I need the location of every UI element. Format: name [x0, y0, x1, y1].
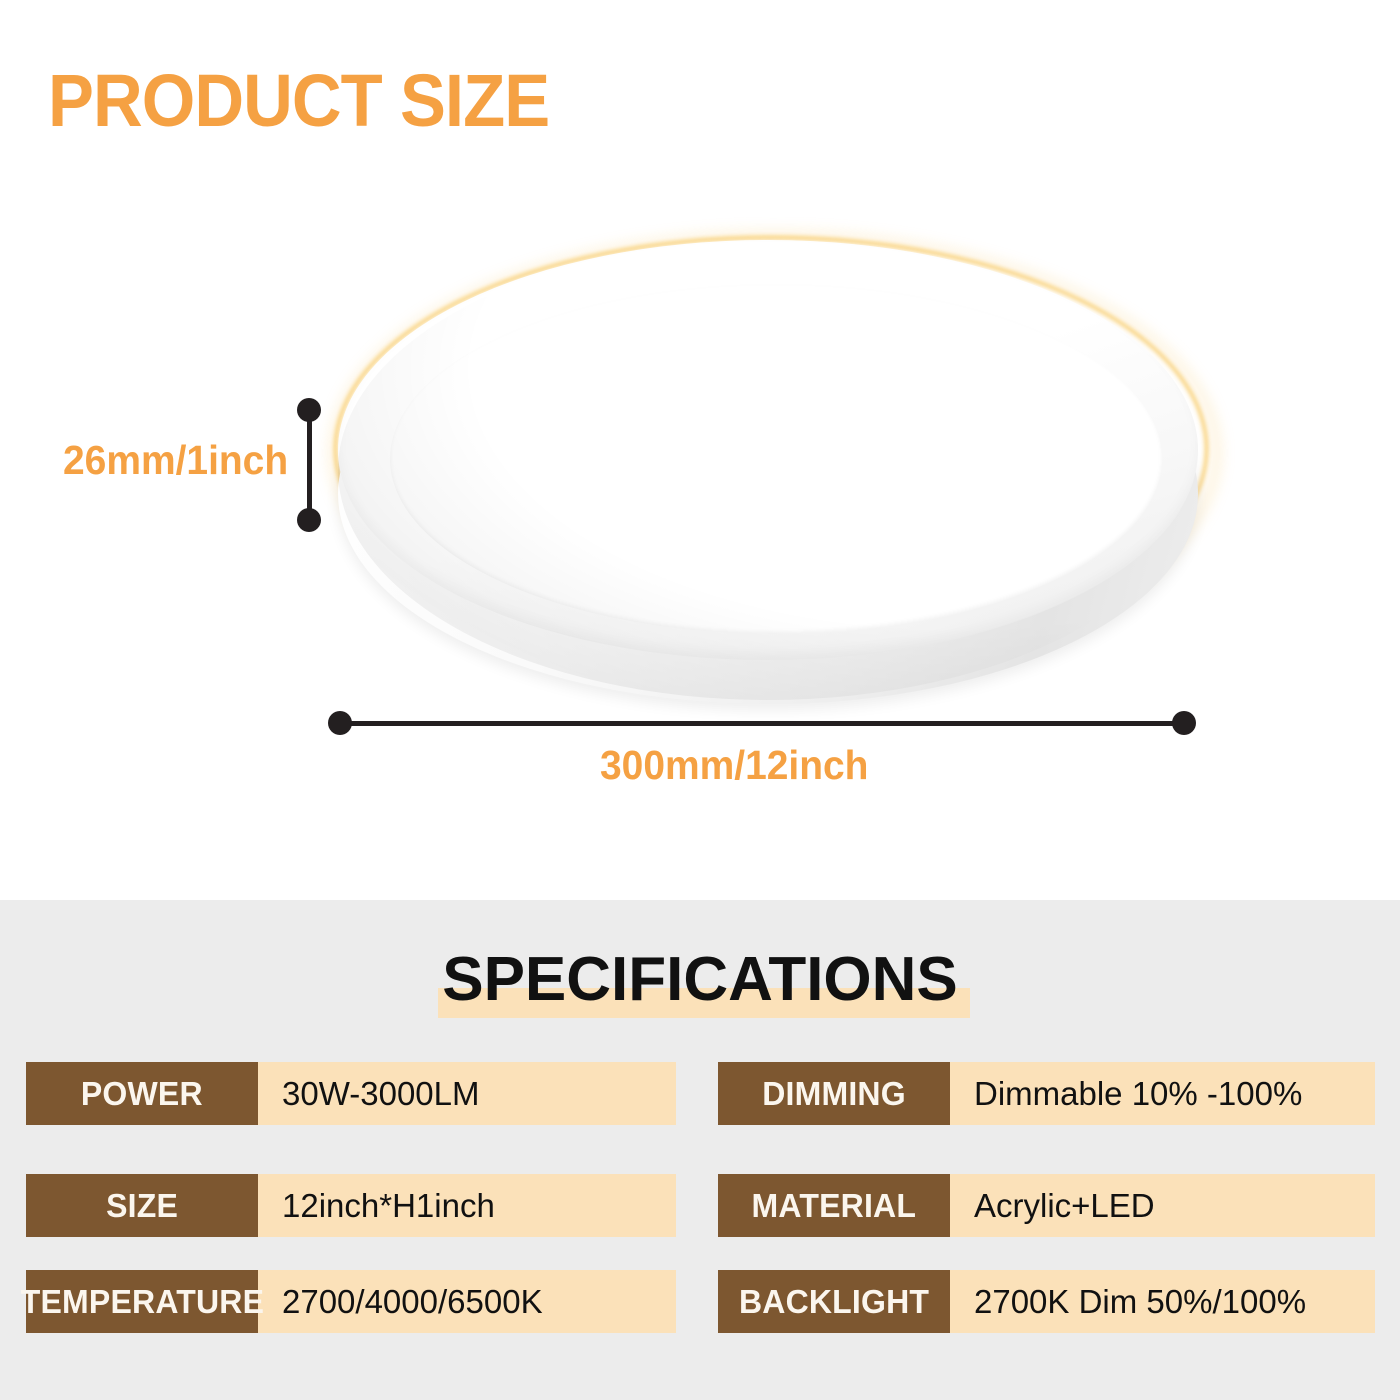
width-dimension-endpoint-left: [328, 711, 352, 735]
width-dimension-line: [340, 721, 1185, 726]
spec-key-power: POWER: [26, 1062, 258, 1125]
spec-row-dimming: DIMMING Dimmable 10% -100%: [718, 1062, 1375, 1125]
lamp-diffuser-panel: [390, 284, 1162, 634]
product-image-ceiling-light: [330, 232, 1210, 692]
height-dimension-endpoint-bottom: [297, 508, 321, 532]
height-dimension-label: 26mm/1inch: [63, 437, 288, 484]
height-dimension-endpoint-top: [297, 398, 321, 422]
spec-key-temperature: TEMPERATURE: [26, 1270, 258, 1333]
spec-value-backlight: 2700K Dim 50%/100%: [950, 1270, 1375, 1333]
spec-value-temperature: 2700/4000/6500K: [258, 1270, 676, 1333]
spec-value-power: 30W-3000LM: [258, 1062, 676, 1125]
width-dimension-label: 300mm/12inch: [600, 742, 868, 789]
spec-value-dimming: Dimmable 10% -100%: [950, 1062, 1375, 1125]
product-size-section: PRODUCT SIZE 26mm/1inch 300mm/12inch: [0, 0, 1400, 900]
spec-row-temperature: TEMPERATURE 2700/4000/6500K: [26, 1270, 676, 1333]
spec-key-power-label: POWER: [81, 1075, 203, 1113]
spec-key-material-label: MATERIAL: [752, 1187, 917, 1225]
spec-key-size: SIZE: [26, 1174, 258, 1237]
product-infographic-page: PRODUCT SIZE 26mm/1inch 300mm/12inch SPE…: [0, 0, 1400, 1400]
specifications-heading: SPECIFICATIONS: [0, 944, 1400, 1015]
spec-row-power: POWER 30W-3000LM: [26, 1062, 676, 1125]
spec-row-material: MATERIAL Acrylic+LED: [718, 1174, 1375, 1237]
spec-key-size-label: SIZE: [106, 1187, 178, 1225]
spec-key-dimming-label: DIMMING: [762, 1075, 906, 1113]
spec-value-size: 12inch*H1inch: [258, 1174, 676, 1237]
spec-value-material: Acrylic+LED: [950, 1174, 1375, 1237]
height-dimension-line: [307, 410, 312, 522]
spec-key-backlight: BACKLIGHT: [718, 1270, 950, 1333]
width-dimension-endpoint-right: [1172, 711, 1196, 735]
spec-key-temperature-label: TEMPERATURE: [20, 1283, 263, 1321]
specifications-section: SPECIFICATIONS POWER 30W-3000LM SIZE 12i…: [0, 900, 1400, 1400]
lamp-top-face: [338, 240, 1198, 660]
page-title: PRODUCT SIZE: [48, 58, 549, 143]
spec-key-dimming: DIMMING: [718, 1062, 950, 1125]
spec-row-size: SIZE 12inch*H1inch: [26, 1174, 676, 1237]
spec-key-material: MATERIAL: [718, 1174, 950, 1237]
spec-row-backlight: BACKLIGHT 2700K Dim 50%/100%: [718, 1270, 1375, 1333]
spec-key-backlight-label: BACKLIGHT: [739, 1283, 929, 1321]
